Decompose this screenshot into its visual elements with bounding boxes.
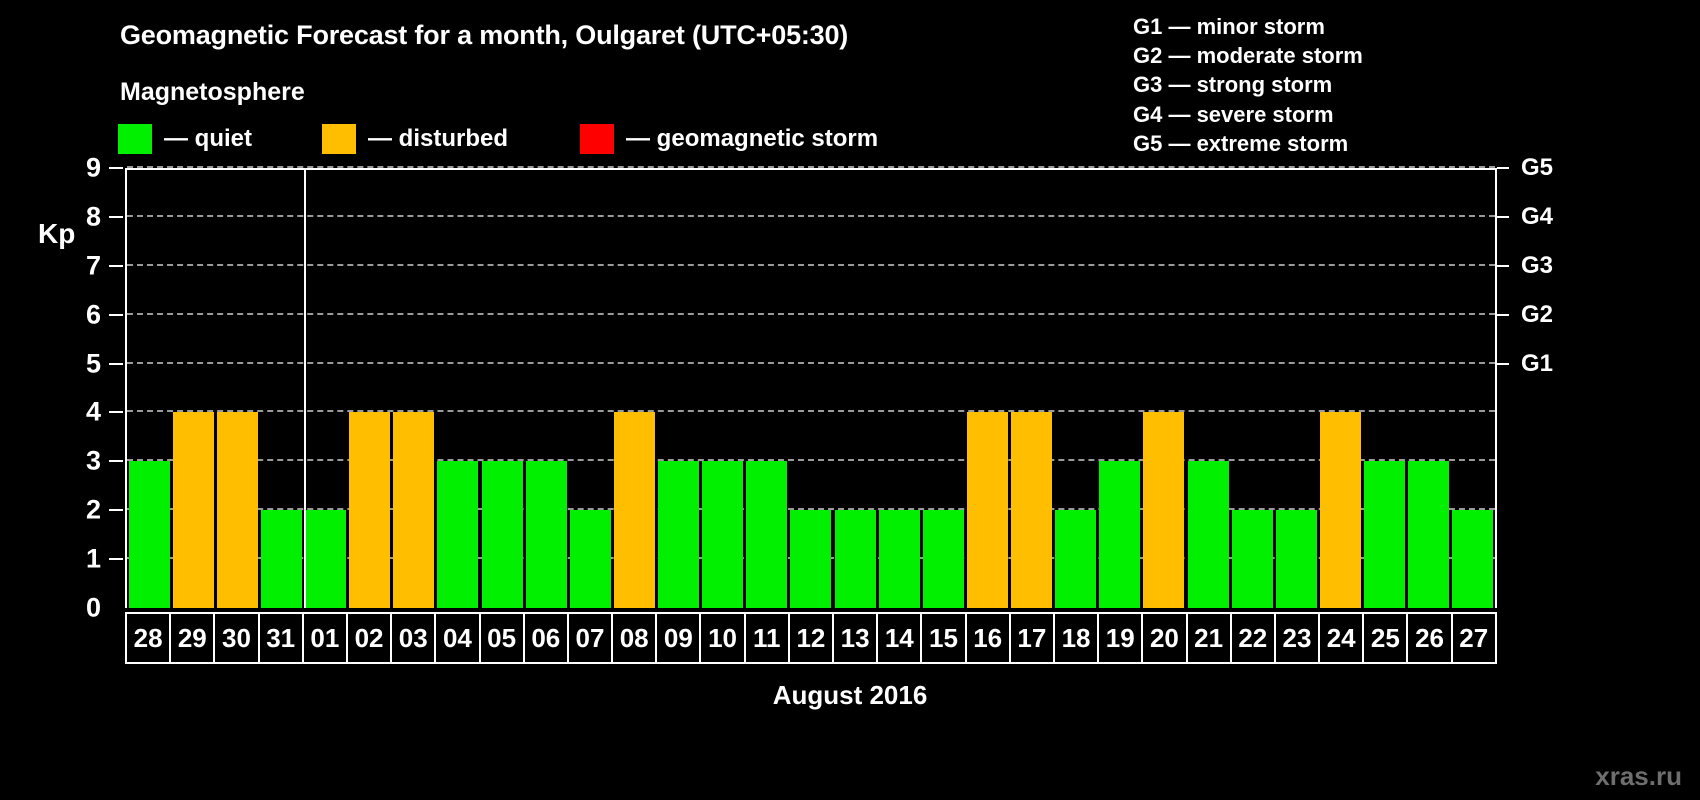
y-tick-label-7: 7 — [86, 250, 101, 281]
y-tick-mark-1 — [109, 558, 123, 560]
bar-07[interactable] — [570, 510, 611, 608]
date-label-11[interactable]: 11 — [746, 614, 790, 662]
bar-01[interactable] — [305, 510, 346, 608]
date-label-14[interactable]: 14 — [878, 614, 922, 662]
bar-04[interactable] — [437, 461, 478, 608]
date-label-03[interactable]: 03 — [392, 614, 436, 662]
bar-cell — [304, 170, 348, 608]
date-label-10[interactable]: 10 — [701, 614, 745, 662]
x-axis-title: August 2016 — [0, 680, 1700, 711]
y-tick-mark-3 — [109, 460, 123, 462]
bar-31[interactable] — [261, 510, 302, 608]
g-scale-line-g3: G3 — strong storm — [1133, 70, 1363, 99]
g-tick-mark-g5 — [1497, 167, 1509, 169]
y-tick-label-1: 1 — [86, 544, 101, 575]
y-tick-label-4: 4 — [86, 397, 101, 428]
bar-cell — [392, 170, 436, 608]
legend-item-storm: — geomagnetic storm — [580, 124, 878, 154]
bar-cell — [1098, 170, 1142, 608]
bar-cell — [789, 170, 833, 608]
date-label-29[interactable]: 29 — [171, 614, 215, 662]
bar-cell — [127, 170, 171, 608]
bar-cell — [1054, 170, 1098, 608]
bar-06[interactable] — [526, 461, 567, 608]
bar-cell — [1274, 170, 1318, 608]
y-tick-label-8: 8 — [86, 201, 101, 232]
bar-cell — [701, 170, 745, 608]
date-label-26[interactable]: 26 — [1408, 614, 1452, 662]
date-label-04[interactable]: 04 — [436, 614, 480, 662]
orange-swatch-icon — [322, 124, 356, 154]
bar-cell — [524, 170, 568, 608]
date-label-08[interactable]: 08 — [613, 614, 657, 662]
date-label-05[interactable]: 05 — [481, 614, 525, 662]
bar-28[interactable] — [129, 461, 170, 608]
bar-cell — [1407, 170, 1451, 608]
bar-26[interactable] — [1408, 461, 1449, 608]
bar-03[interactable] — [393, 412, 434, 608]
g-scale-line-g4: G4 — severe storm — [1133, 100, 1363, 129]
legend-item-quiet: — quiet — [118, 124, 252, 154]
y-tick-mark-9 — [109, 167, 123, 169]
legend-heading: Magnetosphere — [120, 78, 305, 107]
g-tick-mark-g4 — [1497, 216, 1509, 218]
bar-cell — [877, 170, 921, 608]
bar-cell — [612, 170, 656, 608]
bar-10[interactable] — [702, 461, 743, 608]
bar-15[interactable] — [923, 510, 964, 608]
bar-09[interactable] — [658, 461, 699, 608]
date-label-24[interactable]: 24 — [1320, 614, 1364, 662]
y-tick-mark-8 — [109, 216, 123, 218]
bar-20[interactable] — [1143, 412, 1184, 608]
date-label-07[interactable]: 07 — [569, 614, 613, 662]
bar-21[interactable] — [1188, 461, 1229, 608]
bar-cell — [833, 170, 877, 608]
y-tick-label-0: 0 — [86, 593, 101, 624]
date-label-16[interactable]: 16 — [967, 614, 1011, 662]
bar-19[interactable] — [1099, 461, 1140, 608]
bar-cell — [436, 170, 480, 608]
g-tick-label-g2: G2 — [1521, 301, 1553, 329]
date-label-15[interactable]: 15 — [922, 614, 966, 662]
bar-cell — [657, 170, 701, 608]
x-axis-date-labels: 2829303101020304050607080910111213141516… — [125, 612, 1497, 664]
date-label-19[interactable]: 19 — [1099, 614, 1143, 662]
y-tick-mark-6 — [109, 314, 123, 316]
date-label-09[interactable]: 09 — [657, 614, 701, 662]
watermark: xras.ru — [1595, 761, 1682, 792]
gridline-kp-9 — [127, 166, 1495, 168]
bar-cell — [1451, 170, 1495, 608]
bar-08[interactable] — [614, 412, 655, 608]
y-tick-label-5: 5 — [86, 348, 101, 379]
date-label-27[interactable]: 27 — [1453, 614, 1495, 662]
date-label-23[interactable]: 23 — [1276, 614, 1320, 662]
bar-18[interactable] — [1055, 510, 1096, 608]
legend-label-disturbed: — disturbed — [368, 125, 508, 153]
bar-23[interactable] — [1276, 510, 1317, 608]
bar-13[interactable] — [835, 510, 876, 608]
legend-label-quiet: — quiet — [164, 125, 252, 153]
page-title: Geomagnetic Forecast for a month, Oulgar… — [120, 20, 848, 51]
bar-cell — [348, 170, 392, 608]
date-label-02[interactable]: 02 — [348, 614, 392, 662]
bar-cell — [171, 170, 215, 608]
date-label-28[interactable]: 28 — [127, 614, 171, 662]
bar-cell — [921, 170, 965, 608]
g-scale-line-g2: G2 — moderate storm — [1133, 41, 1363, 70]
bar-27[interactable] — [1452, 510, 1493, 608]
date-label-17[interactable]: 17 — [1011, 614, 1055, 662]
g-tick-mark-g3 — [1497, 265, 1509, 267]
bar-series — [127, 170, 1495, 608]
bar-cell — [215, 170, 259, 608]
plot-area — [125, 168, 1497, 608]
bar-30[interactable] — [217, 412, 258, 608]
plot-wrapper — [125, 168, 1497, 608]
bar-cell — [1318, 170, 1362, 608]
date-label-22[interactable]: 22 — [1232, 614, 1276, 662]
red-swatch-icon — [580, 124, 614, 154]
bar-11[interactable] — [746, 461, 787, 608]
g-tick-label-g3: G3 — [1521, 252, 1553, 280]
y-tick-mark-5 — [109, 363, 123, 365]
y-tick-mark-4 — [109, 411, 123, 413]
bar-25[interactable] — [1364, 461, 1405, 608]
g-tick-mark-g1 — [1497, 363, 1509, 365]
date-label-01[interactable]: 01 — [304, 614, 348, 662]
bar-12[interactable] — [790, 510, 831, 608]
green-swatch-icon — [118, 124, 152, 154]
legend-label-storm: — geomagnetic storm — [626, 125, 878, 153]
g-scale-axis: G1G2G3G4G5 — [1497, 168, 1697, 608]
date-label-06[interactable]: 06 — [525, 614, 569, 662]
date-label-18[interactable]: 18 — [1055, 614, 1099, 662]
date-label-12[interactable]: 12 — [790, 614, 834, 662]
legend-item-disturbed: — disturbed — [322, 124, 508, 154]
date-label-21[interactable]: 21 — [1188, 614, 1232, 662]
bar-05[interactable] — [482, 461, 523, 608]
g-tick-label-g5: G5 — [1521, 154, 1553, 182]
bar-14[interactable] — [879, 510, 920, 608]
date-label-30[interactable]: 30 — [215, 614, 259, 662]
g-tick-label-g1: G1 — [1521, 350, 1553, 378]
y-tick-mark-2 — [109, 509, 123, 511]
bar-22[interactable] — [1232, 510, 1273, 608]
date-label-25[interactable]: 25 — [1364, 614, 1408, 662]
g-tick-mark-g2 — [1497, 314, 1509, 316]
y-tick-label-6: 6 — [86, 299, 101, 330]
bar-cell — [965, 170, 1009, 608]
bar-cell — [1142, 170, 1186, 608]
bar-cell — [259, 170, 303, 608]
month-divider — [304, 170, 306, 608]
y-tick-label-9: 9 — [86, 153, 101, 184]
bar-cell — [480, 170, 524, 608]
g-tick-label-g4: G4 — [1521, 203, 1553, 231]
date-label-13[interactable]: 13 — [834, 614, 878, 662]
bar-02[interactable] — [349, 412, 390, 608]
y-tick-label-2: 2 — [86, 495, 101, 526]
bar-cell — [1010, 170, 1054, 608]
bar-16[interactable] — [967, 412, 1008, 608]
y-tick-mark-7 — [109, 265, 123, 267]
y-axis-title: Kp — [38, 218, 75, 250]
bar-cell — [1363, 170, 1407, 608]
date-label-20[interactable]: 20 — [1143, 614, 1187, 662]
g-scale-line-g1: G1 — minor storm — [1133, 12, 1363, 41]
bar-cell — [1186, 170, 1230, 608]
y-tick-label-3: 3 — [86, 446, 101, 477]
g-scale-line-g5: G5 — extreme storm — [1133, 129, 1363, 158]
bar-cell — [568, 170, 612, 608]
bar-cell — [745, 170, 789, 608]
bar-24[interactable] — [1320, 412, 1361, 608]
legend: — quiet — disturbed — geomagnetic storm — [118, 122, 878, 156]
date-label-31[interactable]: 31 — [260, 614, 304, 662]
bar-cell — [1230, 170, 1274, 608]
bar-29[interactable] — [173, 412, 214, 608]
g-scale-legend: G1 — minor storm G2 — moderate storm G3 … — [1133, 12, 1363, 158]
bar-17[interactable] — [1011, 412, 1052, 608]
